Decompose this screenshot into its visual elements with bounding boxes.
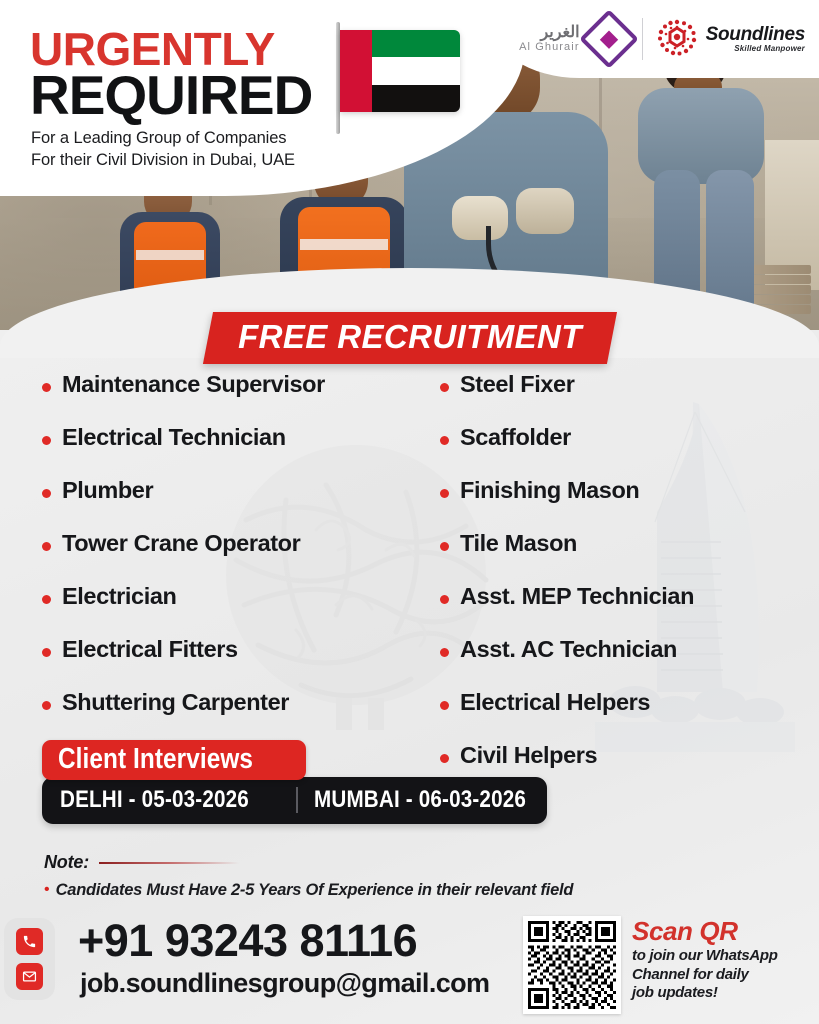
job-title: Tower Crane Operator (62, 531, 300, 556)
qr-sub-line-2: Channel for daily (632, 966, 778, 985)
job-title: Electrical Helpers (460, 690, 650, 715)
client-interviews-badge: Client Interviews (42, 740, 306, 780)
recruitment-poster: URGENTLY REQUIRED For a Leading Group of… (0, 0, 819, 1024)
job-title: Scaffolder (460, 425, 571, 450)
list-item: Maintenance Supervisor (42, 372, 442, 425)
date-separator (296, 787, 298, 813)
soundlines-logo: Soundlines Skilled Manpower (655, 17, 805, 61)
subtitle-line-1: For a Leading Group of Companies (31, 128, 295, 150)
list-item: Plumber (42, 478, 442, 531)
job-title: Asst. AC Technician (460, 637, 677, 662)
list-item: Asst. MEP Technician (440, 584, 815, 637)
uae-flag-icon (340, 30, 460, 112)
job-title: Electrical Technician (62, 425, 286, 450)
flag-red-band (340, 30, 372, 112)
list-item: Electrician (42, 584, 442, 637)
email-icon[interactable] (16, 963, 43, 990)
contact-footer: +91 93243 81116 job.soundlinesgroup@gmai… (0, 908, 819, 1024)
qr-subtitle: to join our WhatsApp Channel for daily j… (632, 947, 778, 1003)
bullet-icon (42, 542, 51, 551)
free-recruitment-banner: FREE RECRUITMENT (203, 312, 617, 364)
client-interviews-label: Client Interviews (58, 744, 253, 775)
contact-icon-group (4, 918, 55, 1000)
list-item: Asst. AC Technician (440, 637, 815, 690)
bullet-icon (42, 595, 51, 604)
free-recruitment-label: FREE RECRUITMENT (238, 320, 582, 355)
phone-number[interactable]: +91 93243 81116 (78, 918, 417, 963)
header-subtitle: For a Leading Group of Companies For the… (31, 128, 295, 172)
flag-green-band (372, 30, 460, 57)
bullet-icon (42, 489, 51, 498)
note-label: Note: (44, 852, 89, 873)
job-title: Electrician (62, 584, 176, 609)
job-title: Steel Fixer (460, 372, 574, 397)
qr-instructions: Scan QR to join our WhatsApp Channel for… (632, 918, 778, 1003)
qr-title: Scan QR (632, 918, 778, 945)
note-section: Note: • Candidates Must Have 2-5 Years O… (44, 852, 573, 900)
soundlines-burst-icon (655, 17, 699, 61)
list-item: Shuttering Carpenter (42, 690, 442, 743)
soundlines-tagline: Skilled Manpower (706, 45, 805, 53)
list-item: Finishing Mason (440, 478, 815, 531)
soundlines-name: Soundlines (706, 25, 805, 44)
flag-black-band (372, 85, 460, 112)
al-ghurair-arabic-label: الغرير (519, 25, 580, 42)
al-ghurair-english-label: Al Ghurair (519, 42, 580, 54)
list-item: Electrical Technician (42, 425, 442, 478)
list-item: Tile Mason (440, 531, 815, 584)
logo-divider (642, 18, 643, 60)
bullet-icon (42, 648, 51, 657)
subtitle-line-2: For their Civil Division in Dubai, UAE (31, 150, 295, 172)
job-title: Tile Mason (460, 531, 577, 556)
bullet-icon (440, 489, 449, 498)
diamond-icon (579, 9, 638, 68)
interview-dates-bar: DELHI - 05-03-2026 MUMBAI - 06-03-2026 (42, 777, 547, 824)
job-title: Shuttering Carpenter (62, 690, 289, 715)
logo-bar: الغرير Al Ghurair (489, 0, 819, 78)
job-title: Finishing Mason (460, 478, 639, 503)
bullet-icon (440, 383, 449, 392)
job-column-right: Steel Fixer Scaffolder Finishing Mason T… (440, 372, 815, 796)
list-item: Electrical Fitters (42, 637, 442, 690)
interview-date-mumbai: MUMBAI - 06-03-2026 (314, 786, 526, 814)
bullet-icon (440, 436, 449, 445)
job-title: Asst. MEP Technician (460, 584, 694, 609)
title-required: REQUIRED (30, 68, 312, 123)
phone-icon[interactable] (16, 928, 43, 955)
note-text: Candidates Must Have 2-5 Years Of Experi… (56, 881, 574, 900)
qr-sub-line-3: job updates! (632, 984, 778, 1003)
job-column-left: Maintenance Supervisor Electrical Techni… (42, 372, 442, 743)
bullet-icon (440, 701, 449, 710)
list-item: Tower Crane Operator (42, 531, 442, 584)
list-item: Electrical Helpers (440, 690, 815, 743)
job-title: Plumber (62, 478, 153, 503)
bullet-icon (440, 542, 449, 551)
email-address[interactable]: job.soundlinesgroup@gmail.com (80, 970, 489, 997)
job-title: Maintenance Supervisor (62, 372, 325, 397)
client-interviews-section: Client Interviews DELHI - 05-03-2026 MUM… (42, 740, 547, 824)
al-ghurair-logo: الغرير Al Ghurair (519, 18, 630, 60)
list-item: Steel Fixer (440, 372, 815, 425)
interview-date-delhi: DELHI - 05-03-2026 (60, 786, 249, 814)
list-item: Scaffolder (440, 425, 815, 478)
job-title: Electrical Fitters (62, 637, 238, 662)
uae-flag (330, 14, 470, 134)
bullet-icon (42, 383, 51, 392)
flag-white-band (372, 57, 460, 84)
qr-sub-line-1: to join our WhatsApp (632, 947, 778, 966)
bullet-icon (440, 648, 449, 657)
bullet-icon (42, 436, 51, 445)
qr-code[interactable] (523, 916, 621, 1014)
bullet-icon (42, 701, 51, 710)
note-divider (99, 862, 239, 864)
note-bullet-icon: • (44, 881, 50, 899)
bullet-icon (440, 595, 449, 604)
